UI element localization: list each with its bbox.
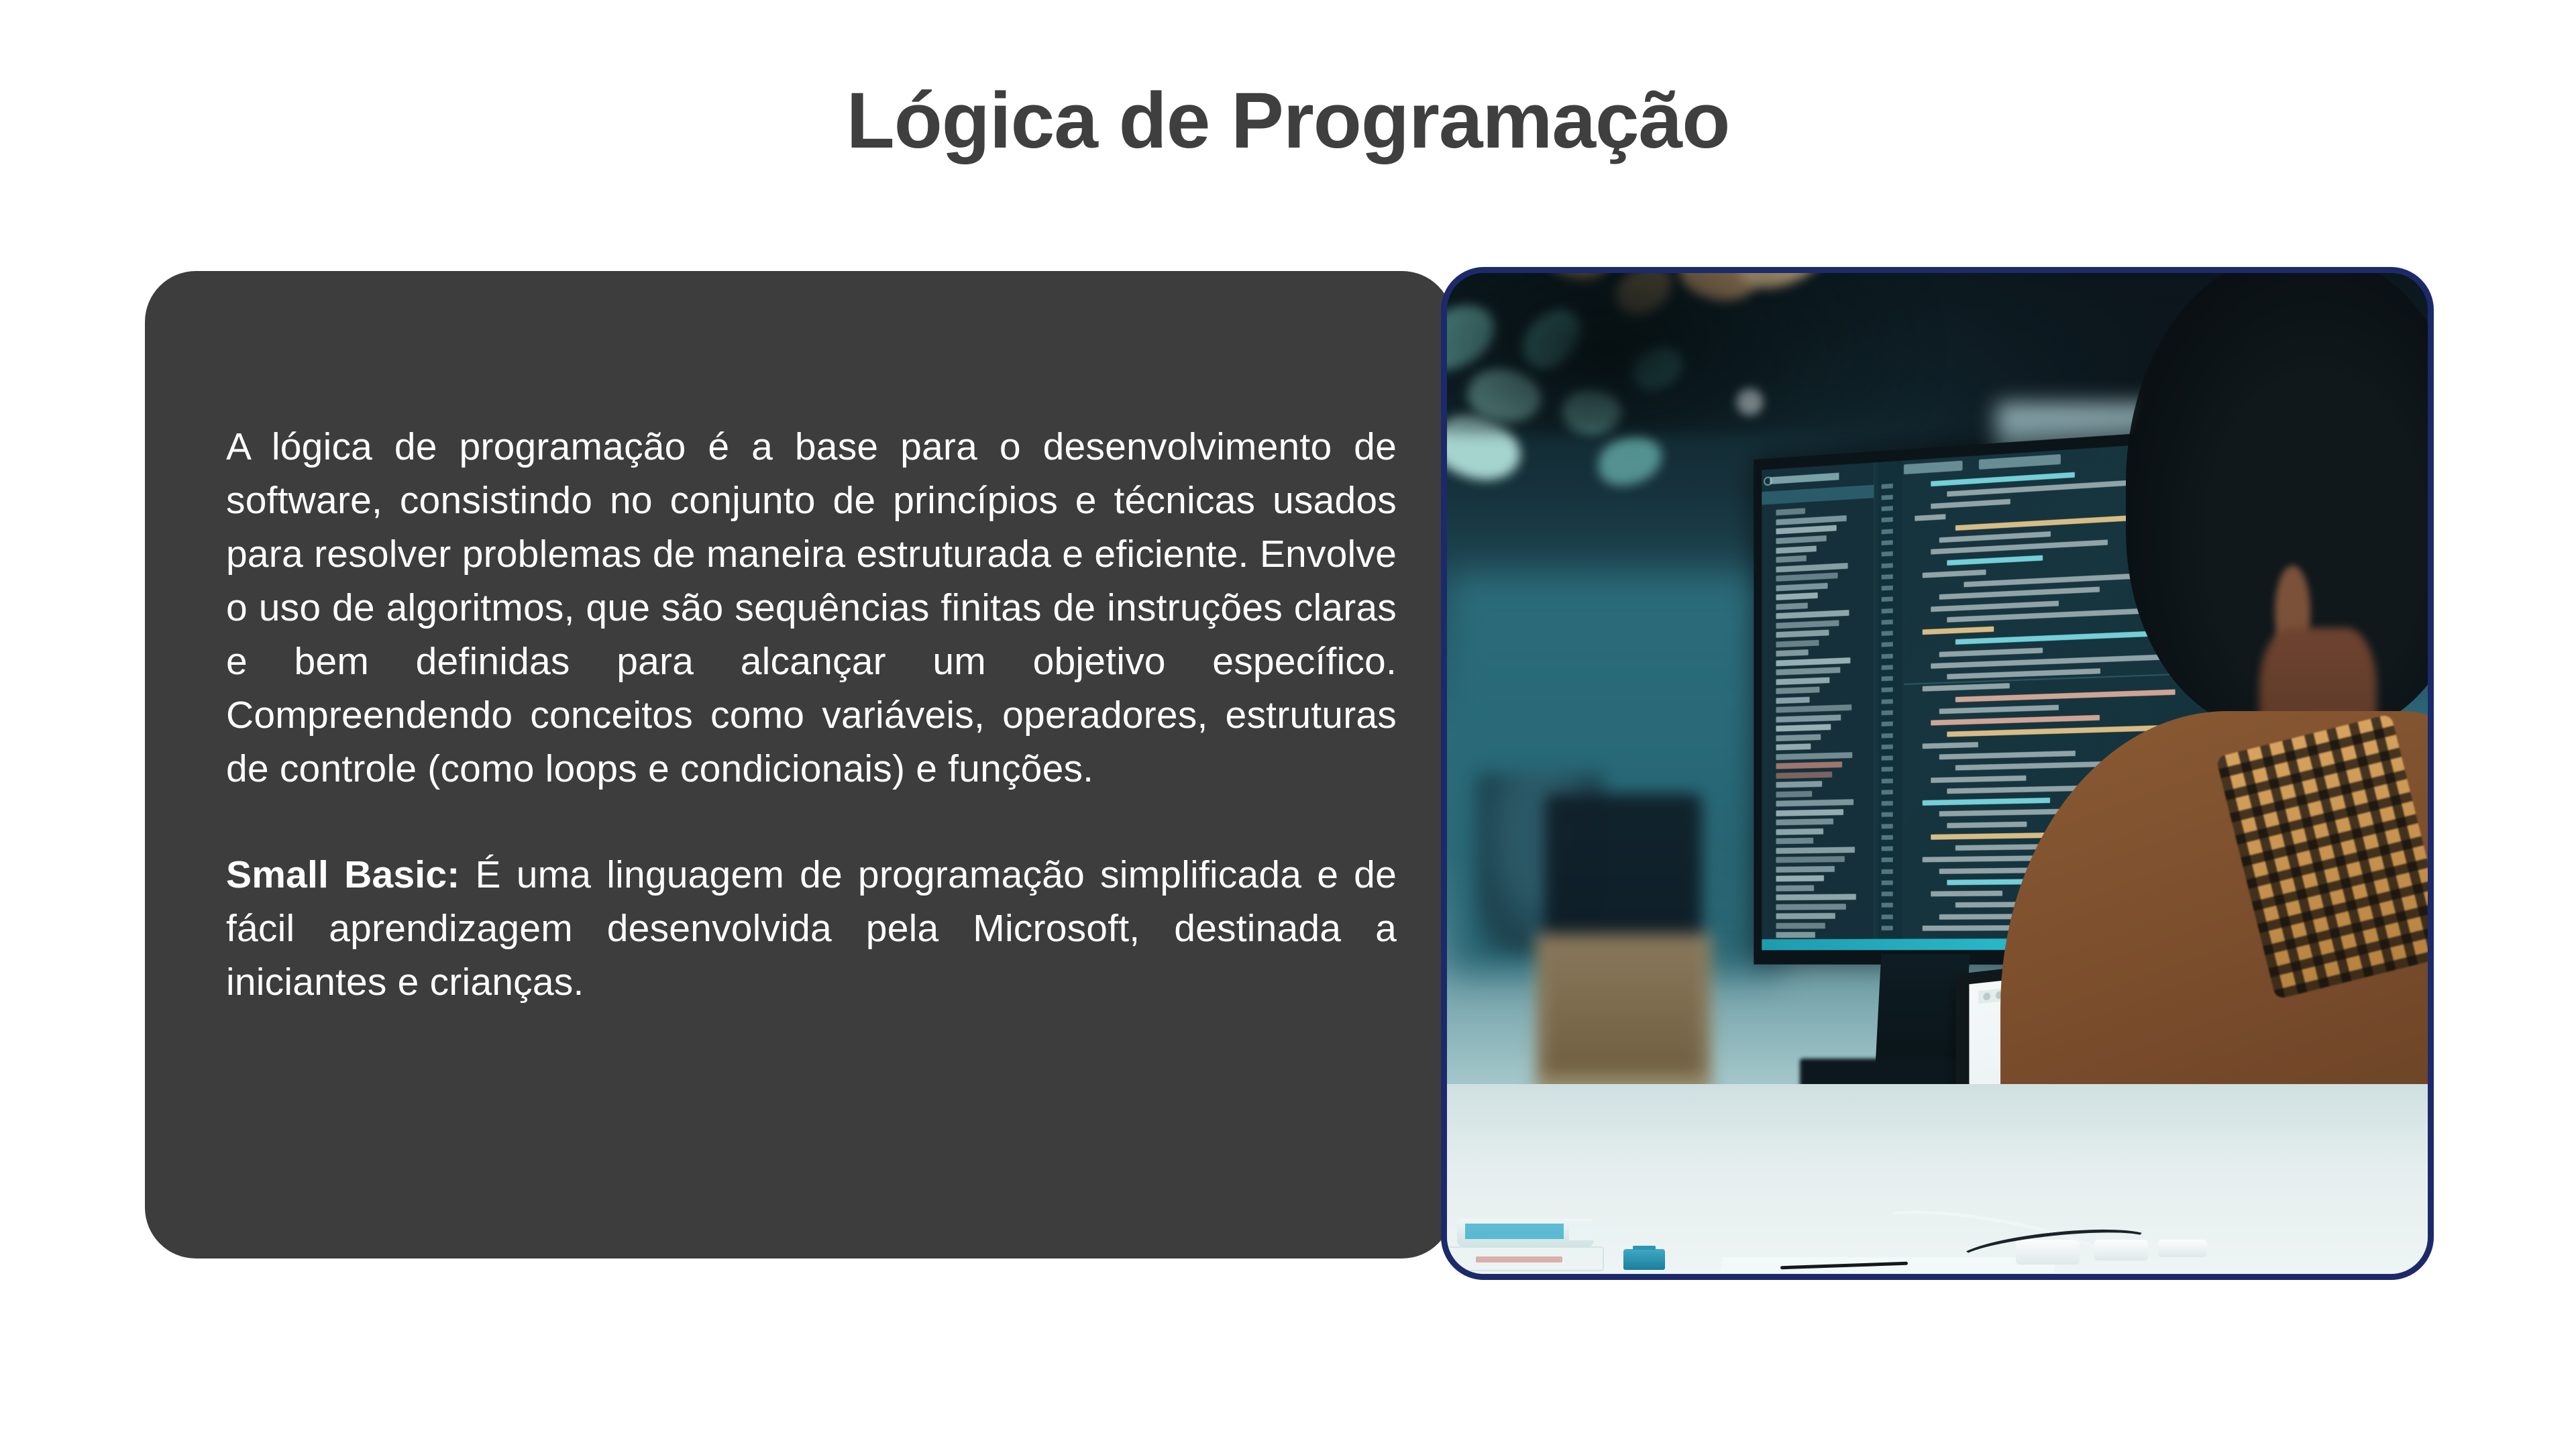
text-panel: A lógica de programação é a base para o … — [145, 271, 1453, 1258]
editor-line-number — [1882, 846, 1893, 851]
desk-surface — [1447, 1084, 2428, 1274]
sidebar-file-item — [1776, 790, 1811, 797]
sidebar-file-item — [1776, 828, 1823, 835]
sidebar-file-item — [1776, 894, 1856, 901]
editor-line-number — [1882, 767, 1893, 771]
editor-line-number — [1882, 903, 1893, 908]
sidebar-file-item — [1776, 535, 1826, 544]
bottle-cap — [1633, 1246, 1656, 1250]
editor-line-number — [1882, 483, 1893, 488]
editor-line-number — [1882, 823, 1893, 828]
sidebar-file-item — [1776, 743, 1811, 750]
sidebar-file-item — [1776, 555, 1806, 563]
editor-code-line — [1931, 890, 2002, 896]
editor-code-line — [1931, 600, 2059, 612]
editor-line-number — [1882, 665, 1893, 670]
editor-code-line — [1915, 514, 1946, 521]
sidebar-file-item — [1776, 904, 1845, 910]
editor-code-line — [1923, 855, 2034, 862]
sidebar-file-item — [1776, 508, 1805, 515]
editor-line-number — [1882, 699, 1893, 704]
paragraph-small-basic-lead: Small Basic: — [226, 853, 460, 896]
editor-line-number — [1882, 688, 1893, 692]
editor-code-line — [1923, 683, 2010, 692]
sidebar-file-item — [1776, 620, 1839, 629]
foliage-shadow — [1447, 273, 1937, 433]
editor-tab — [1978, 454, 2061, 470]
editor-line-number — [1882, 596, 1893, 602]
paragraph-intro: A lógica de programação é a base para o … — [226, 420, 1397, 796]
sidebar-file-item — [1776, 781, 1821, 788]
sidebar-file-item — [1776, 856, 1844, 863]
sidebar-file-item — [1776, 799, 1853, 806]
editor-code-line — [1923, 798, 2050, 806]
editor-line-number — [1882, 574, 1893, 580]
sidebar-file-item — [1776, 724, 1831, 731]
sidebar-file-item — [1776, 610, 1849, 619]
editor-code-line — [1923, 627, 1994, 635]
sidebar-file-item — [1776, 696, 1809, 703]
sidebar-file-item — [1776, 582, 1827, 591]
editor-code-line — [1931, 472, 2075, 486]
paragraph-small-basic: Small Basic: É uma linguagem de programa… — [226, 848, 1397, 1009]
editor-line-number — [1882, 812, 1893, 817]
coffee-mug — [1457, 1219, 1595, 1248]
sidebar-file-item — [1776, 677, 1829, 685]
sidebar-header — [1770, 472, 1839, 484]
sidebar-file-item — [1776, 752, 1852, 760]
editor-line-number — [1882, 721, 1893, 726]
editor-line-number — [1882, 744, 1893, 749]
sidebar-file-item — [1776, 913, 1835, 919]
slide-root: Lógica de Programação A lógica de progra… — [0, 0, 2576, 1449]
container-label — [1476, 1256, 1562, 1263]
sidebar-file-item — [1776, 562, 1847, 572]
sidebar-file-item — [1776, 771, 1831, 779]
editor-line-number — [1882, 801, 1893, 806]
developer-workspace-photo — [1447, 273, 2428, 1274]
editor-line-number — [1882, 790, 1893, 794]
sidebar-file-item — [1776, 629, 1828, 637]
editor-code-line — [1931, 775, 2026, 782]
sidebar-file-item — [1776, 525, 1836, 535]
power-adapter — [2158, 1240, 2207, 1257]
editor-line-number — [1882, 506, 1893, 511]
sidebar-file-item — [1776, 515, 1846, 525]
sidebar-file-item — [1776, 809, 1843, 816]
background-desk — [1536, 934, 1712, 1094]
sidebar-file-item — [1776, 572, 1837, 581]
editor-line-number — [1882, 835, 1893, 839]
editor-code-line — [1947, 555, 2043, 565]
sidebar-file-item — [1776, 592, 1817, 600]
editor-line-number — [1882, 755, 1893, 760]
sidebar-file-item — [1776, 922, 1825, 928]
editor-code-line — [1939, 704, 2059, 714]
editor-code-line — [1947, 821, 2027, 828]
editor-line-number — [1882, 653, 1893, 659]
sidebar-file-item — [1776, 838, 1813, 845]
sidebar-file-item — [1776, 602, 1807, 610]
sidebar-file-item — [1776, 932, 1815, 938]
editor-line-number — [1882, 676, 1893, 681]
editor-code-line — [1923, 742, 1978, 749]
sidebar-file-item — [1776, 866, 1834, 873]
sidebar-selected-row — [1762, 485, 1874, 504]
sidebar-file-item — [1776, 545, 1816, 553]
storage-container — [1447, 1246, 1604, 1271]
editor-line-number — [1882, 642, 1893, 647]
sidebar-file-item — [1776, 761, 1842, 769]
mug-handle — [1569, 1226, 1616, 1240]
paragraph-intro-text: A lógica de programação é a base para o … — [226, 425, 1397, 790]
editor-tab — [1903, 460, 1962, 474]
sidebar-file-item — [1776, 885, 1814, 891]
mug-label — [1465, 1224, 1564, 1240]
editor-code-line — [1923, 569, 1986, 578]
editor-line-number — [1882, 778, 1893, 783]
sidebar-file-item — [1776, 649, 1808, 657]
editor-line-number — [1882, 563, 1893, 568]
editor-line-number — [1882, 631, 1893, 636]
editor-line-number — [1882, 914, 1893, 919]
editor-line-number — [1882, 869, 1893, 873]
photo-panel — [1441, 267, 2434, 1280]
sidebar-file-item — [1776, 667, 1839, 675]
editor-line-number — [1882, 857, 1893, 862]
sidebar-file-item — [1776, 639, 1818, 647]
editor-line-number — [1882, 608, 1893, 613]
blue-bottle — [1623, 1249, 1664, 1270]
sidebar-file-item — [1776, 657, 1849, 665]
editor-line-number — [1882, 880, 1893, 885]
editor-line-number — [1882, 529, 1893, 534]
sidebar-file-item — [1776, 704, 1851, 712]
editor-line-number — [1882, 619, 1893, 625]
editor-line-number — [1882, 540, 1893, 545]
editor-code-line — [1923, 925, 2018, 930]
sidebar-file-item — [1776, 875, 1824, 881]
text-panel-body: A lógica de programação é a base para o … — [226, 420, 1397, 1009]
page-title: Lógica de Programação — [0, 78, 2576, 165]
editor-line-number — [1882, 733, 1893, 737]
sidebar-file-item — [1776, 734, 1821, 741]
sidebar-file-item — [1776, 686, 1819, 694]
editor-file-sidebar — [1762, 462, 1874, 950]
editor-code-line — [1939, 647, 2043, 657]
editor-line-number — [1882, 585, 1893, 590]
sidebar-file-item — [1776, 847, 1854, 853]
editor-line-number — [1882, 551, 1893, 557]
editor-code-line — [1931, 499, 2010, 509]
editor-line-number — [1882, 517, 1893, 523]
editor-line-number — [1882, 926, 1893, 930]
leaf-icon — [1595, 433, 1665, 489]
sidebar-file-item — [1776, 714, 1841, 722]
editor-code-line — [1939, 531, 2051, 543]
editor-line-number — [1882, 710, 1893, 714]
sidebar-file-item — [1776, 818, 1833, 825]
editor-line-number — [1882, 494, 1893, 500]
editor-line-number — [1882, 892, 1893, 896]
